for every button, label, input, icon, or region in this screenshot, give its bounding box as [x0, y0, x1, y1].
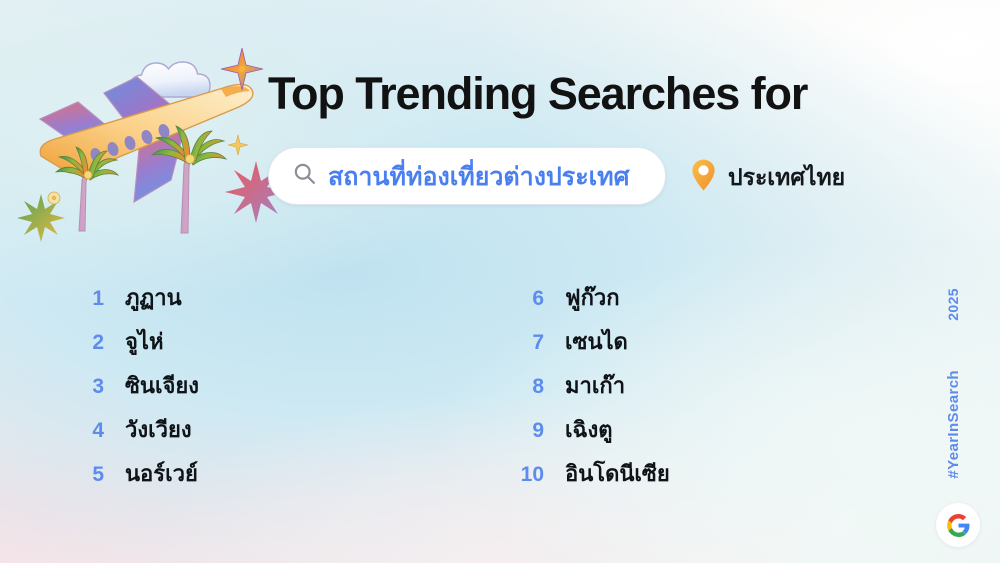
rank-term: ฟูก๊วก [544, 287, 620, 309]
rank-number: 8 [500, 376, 544, 397]
airplane-icon [40, 77, 253, 202]
rank-number: 4 [60, 420, 104, 441]
list-item[interactable]: 9 เฉิงตู [500, 419, 670, 463]
list-item[interactable]: 8 มาเก๊า [500, 375, 670, 419]
year-in-search-card: Top Trending Searches for สถานที่ท่องเที… [0, 0, 1000, 563]
location-pin-icon [690, 158, 717, 197]
list-item[interactable]: 7 เซนได [500, 331, 670, 375]
year-label: 2025 [945, 288, 961, 321]
rank-number: 2 [60, 332, 104, 353]
list-item[interactable]: 1 ภูฏาน [60, 287, 199, 331]
rank-number: 7 [500, 332, 544, 353]
search-icon [292, 161, 317, 191]
rank-term: วังเวียง [104, 419, 192, 441]
list-item[interactable]: 4 วังเวียง [60, 419, 199, 463]
rank-term: เซนได [544, 331, 628, 353]
rank-number: 1 [60, 288, 104, 309]
rank-term: อินโดนีเซีย [544, 463, 670, 485]
rank-term: ภูฏาน [104, 287, 182, 309]
list-item[interactable]: 3 ซินเจียง [60, 375, 199, 419]
rank-number: 9 [500, 420, 544, 441]
hashtag-label: #YearInSearch [945, 370, 962, 479]
list-item[interactable]: 10 อินโดนีเซีย [500, 463, 670, 507]
trending-list-left: 1 ภูฏาน 2 จูไห่ 3 ซินเจียง 4 วังเวียง 5 … [60, 287, 199, 507]
search-input[interactable]: สถานที่ท่องเที่ยวต่างประเทศ [268, 147, 666, 205]
rank-term: นอร์เวย์ [104, 463, 198, 485]
search-query-text: สถานที่ท่องเที่ยวต่างประเทศ [328, 165, 630, 190]
rank-term: ซินเจียง [104, 375, 199, 397]
list-item[interactable]: 6 ฟูก๊วก [500, 287, 670, 331]
page-title: Top Trending Searches for [268, 68, 807, 120]
locale-label: ประเทศไทย [728, 166, 845, 189]
rank-number: 10 [500, 464, 544, 485]
rank-number: 5 [60, 464, 104, 485]
list-item[interactable]: 2 จูไห่ [60, 331, 199, 375]
locale-badge: ประเทศไทย [690, 158, 845, 197]
list-item[interactable]: 5 นอร์เวย์ [60, 463, 199, 507]
google-g-logo [936, 503, 980, 547]
sparkle-icon [228, 135, 248, 155]
trending-list-right: 6 ฟูก๊วก 7 เซนได 8 มาเก๊า 9 เฉิงตู 10 อิ… [500, 287, 670, 507]
travel-illustration [8, 18, 308, 233]
rank-term: มาเก๊า [544, 375, 625, 397]
rank-term: จูไห่ [104, 331, 163, 353]
rank-number: 6 [500, 288, 544, 309]
rank-number: 3 [60, 376, 104, 397]
rank-term: เฉิงตู [544, 419, 613, 441]
sparkle-icon [221, 48, 263, 90]
